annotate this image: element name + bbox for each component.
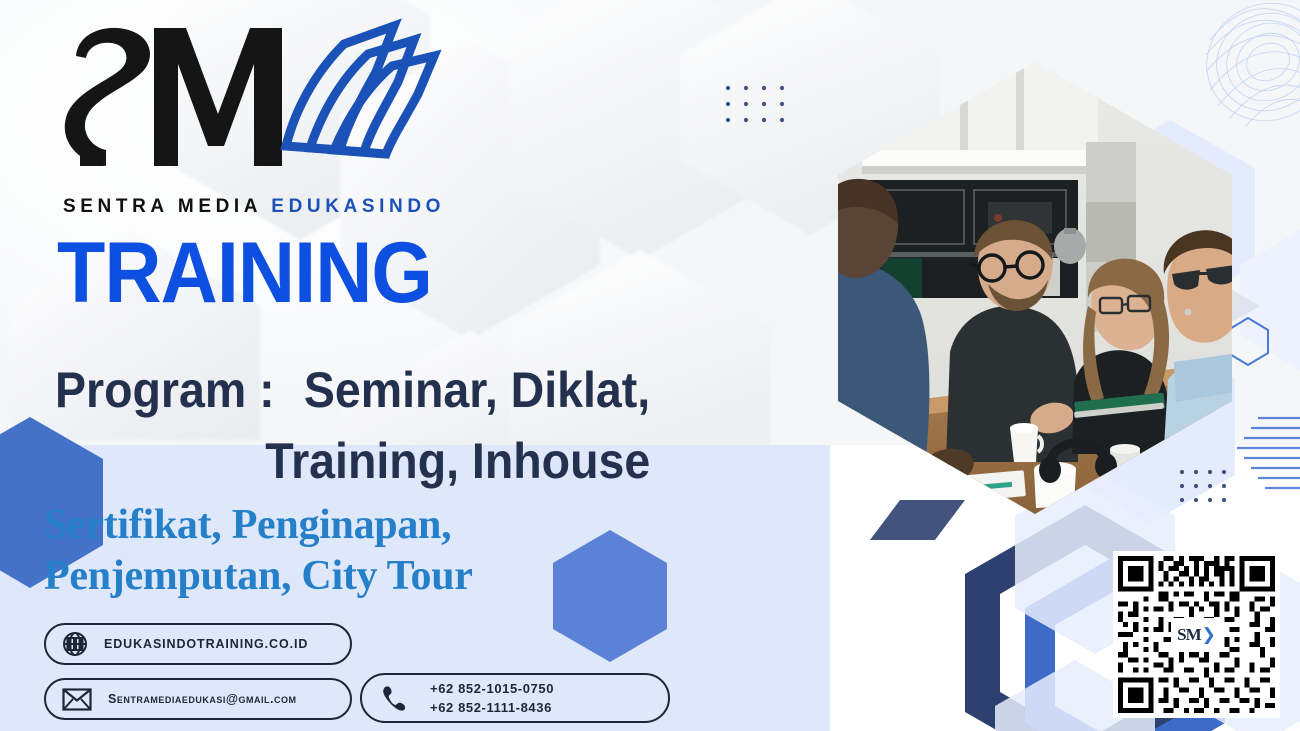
poster-canvas: SENTRA MEDIA EDUKASINDO TRAINING Program… bbox=[0, 0, 1300, 731]
phone-line-1: +62 852-1015-0750 bbox=[430, 681, 554, 696]
page-title: TRAINING bbox=[57, 233, 432, 315]
contact-website-pill[interactable]: EDUKASINDOTRAINING.CO.ID bbox=[44, 623, 352, 665]
chevron-navy-left bbox=[870, 500, 965, 540]
qr-initials: SM bbox=[1177, 625, 1201, 645]
email-text: Sentramediaedukasi@gmail.com bbox=[108, 692, 297, 706]
website-text: EDUKASINDOTRAINING.CO.ID bbox=[104, 637, 308, 651]
contact-phone-pill[interactable]: +62 852-1015-0750 +62 852-1111-8436 bbox=[360, 673, 670, 723]
phone-text: +62 852-1015-0750 +62 852-1111-8436 bbox=[430, 679, 554, 718]
brand-name-dark: SENTRA MEDIA bbox=[63, 196, 261, 217]
envelope-icon bbox=[62, 688, 92, 711]
phone-line-2: +62 852-1111-8436 bbox=[430, 700, 552, 715]
program-label: Program : bbox=[55, 355, 275, 426]
wireframe-torus bbox=[1187, 0, 1300, 141]
dot-grid-left bbox=[726, 86, 784, 122]
benefits-line-2: Penjemputan, City Tour bbox=[44, 553, 473, 599]
brand-name-blue: EDUKASINDO bbox=[271, 196, 445, 217]
brand-logo: SENTRA MEDIA EDUKASINDO bbox=[58, 18, 458, 213]
program-line-1: Seminar, Diklat, bbox=[304, 362, 650, 418]
benefits-line-1: Sertifikat, Penginapan, bbox=[44, 502, 451, 548]
brand-wordmark: SENTRA MEDIA EDUKASINDO bbox=[63, 196, 445, 218]
contact-email-pill[interactable]: Sentramediaedukasi@gmail.com bbox=[44, 678, 352, 720]
qr-center-logo: SM❯ bbox=[1171, 618, 1223, 652]
sm-book-logo-icon bbox=[58, 18, 458, 178]
program-line-2: Training, Inhouse bbox=[265, 433, 650, 489]
qr-code[interactable]: SM❯ bbox=[1113, 551, 1280, 718]
qr-swoosh-icon: ❯ bbox=[1202, 625, 1216, 645]
benefits-heading: Sertifikat, Penginapan, Penjemputan, Cit… bbox=[44, 500, 664, 602]
phone-icon bbox=[380, 684, 408, 712]
line-stack-right bbox=[1237, 418, 1300, 488]
program-heading: Program : Seminar, Diklat, Training, Inh… bbox=[55, 355, 650, 497]
globe-icon bbox=[62, 631, 88, 657]
